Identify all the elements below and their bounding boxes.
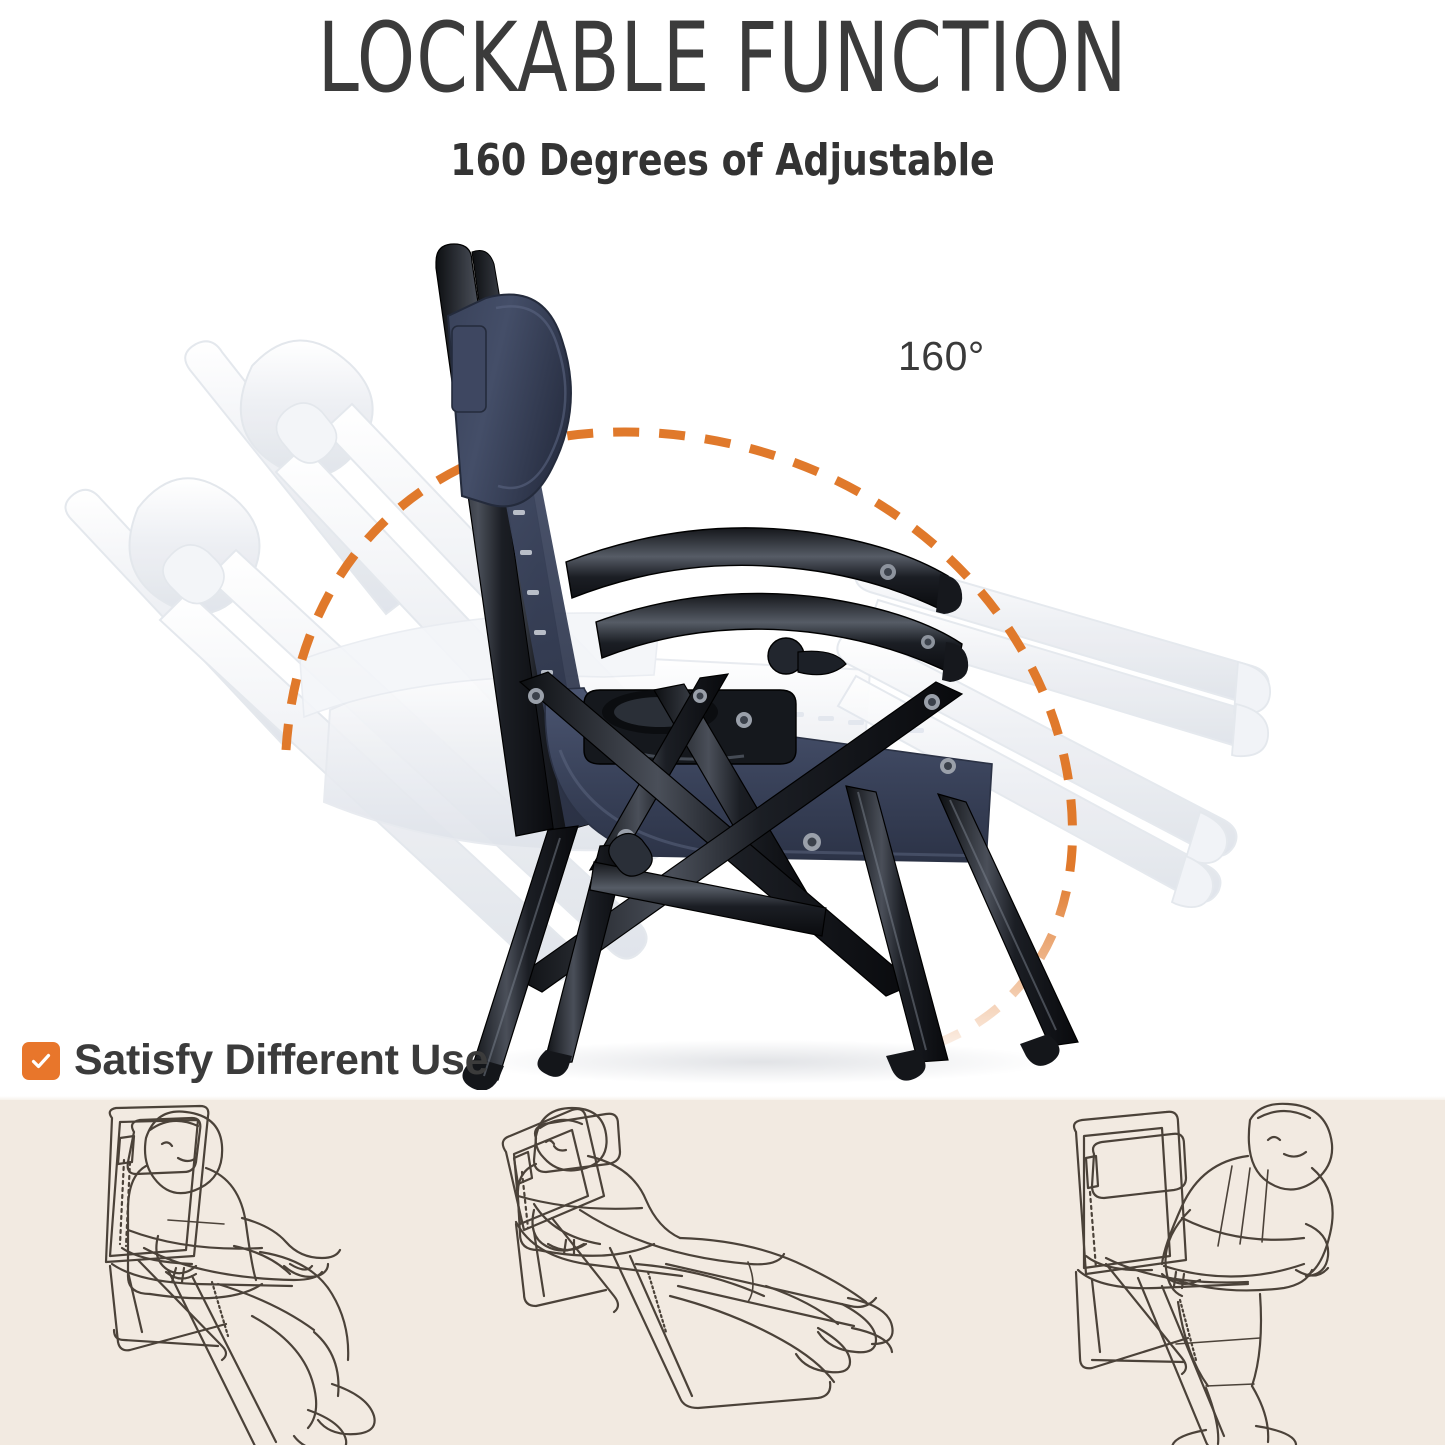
usage-scene-standing-up	[1010, 1100, 1440, 1445]
feature-check-row: Satisfy Different Use	[22, 1036, 488, 1085]
infographic-page: LOCKABLE FUNCTION 160 Degrees of Adjusta…	[0, 0, 1445, 1445]
headrest-pillow	[448, 295, 571, 507]
feature-check-label: Satisfy Different Use	[74, 1036, 488, 1085]
angle-label: 160°	[898, 333, 985, 380]
page-subtitle: 160 Degrees of Adjustable	[58, 135, 1387, 186]
page-title: LOCKABLE FUNCTION	[101, 8, 1344, 109]
usage-scene-fully-reclined	[470, 1100, 970, 1445]
hero-illustration	[0, 190, 1445, 1090]
lock-lever[interactable]	[768, 638, 846, 675]
usage-illustration-panel	[0, 1100, 1445, 1445]
checkmark-icon	[22, 1042, 60, 1080]
usage-scene-seated-upright	[28, 1100, 468, 1445]
